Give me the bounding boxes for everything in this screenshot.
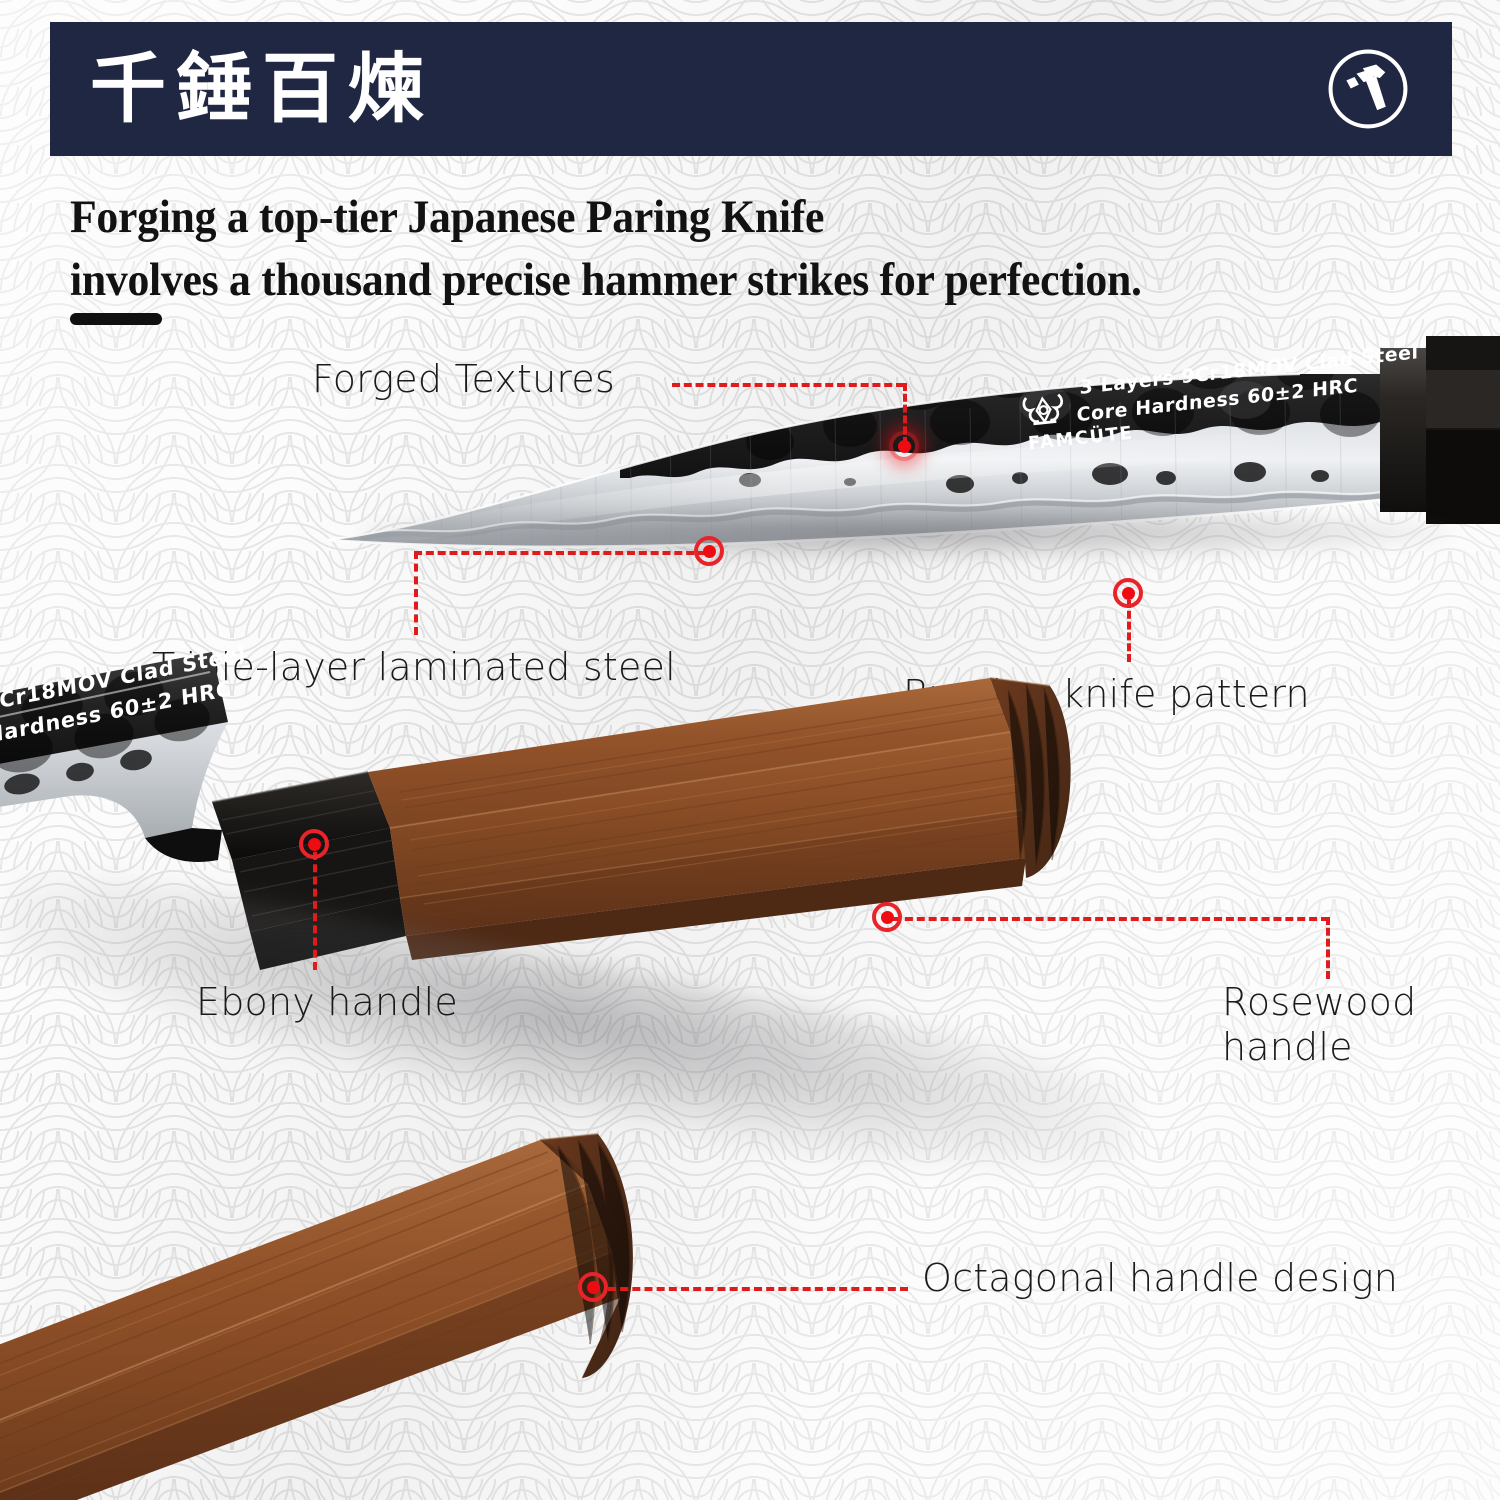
- knife-middle-illustration: [0, 660, 1220, 1200]
- infographic-page: 千錘百煉 Forging a top-tier Japanese Paring …: [0, 0, 1500, 1500]
- rosewood-label-text: Rosewood handle: [1222, 980, 1416, 1069]
- headline-line-2: involves a thousand precise hammer strik…: [70, 249, 1363, 312]
- knife-bottom-handle-illustration: [0, 1120, 740, 1500]
- leader-line-rosewood-handle-v: [1326, 917, 1330, 979]
- marker-burning-pattern[interactable]: [1113, 578, 1143, 608]
- marker-triple-layer[interactable]: [694, 536, 724, 566]
- marker-octagonal-handle[interactable]: [578, 1272, 608, 1302]
- callout-label-ebony-handle: Ebony handle: [196, 980, 458, 1025]
- page-title: 千錘百煉: [90, 51, 434, 127]
- marker-rosewood-handle[interactable]: [872, 902, 902, 932]
- callout-label-rosewood-handle: Rosewood handle: [1222, 980, 1472, 1070]
- marker-forged-textures[interactable]: [889, 431, 919, 461]
- leader-line-octagonal-handle-h: [608, 1287, 908, 1291]
- leader-line-forged-textures-h: [672, 383, 904, 387]
- callout-label-octagonal-handle: Octagonal handle design: [922, 1256, 1398, 1301]
- header-bar: 千錘百煉: [50, 22, 1452, 156]
- leader-line-triple-layer-h: [414, 551, 706, 555]
- bottom-handle-body: [0, 1140, 620, 1500]
- knife-bottom-svg: [0, 1120, 740, 1500]
- headline-accent-rule: [70, 313, 162, 325]
- leader-line-rosewood-handle-h: [893, 917, 1329, 921]
- hammer-icon: [1320, 41, 1416, 137]
- leader-line-burning-pattern-v: [1127, 600, 1131, 662]
- headline-line-1: Forging a top-tier Japanese Paring Knife: [70, 186, 1363, 249]
- leader-line-ebony-handle-v: [313, 852, 317, 970]
- leader-line-triple-layer-v: [414, 551, 418, 635]
- marker-ebony-handle[interactable]: [299, 829, 329, 859]
- callout-label-forged-textures: Forged Textures: [312, 357, 615, 402]
- headline-block: Forging a top-tier Japanese Paring Knife…: [70, 186, 1363, 311]
